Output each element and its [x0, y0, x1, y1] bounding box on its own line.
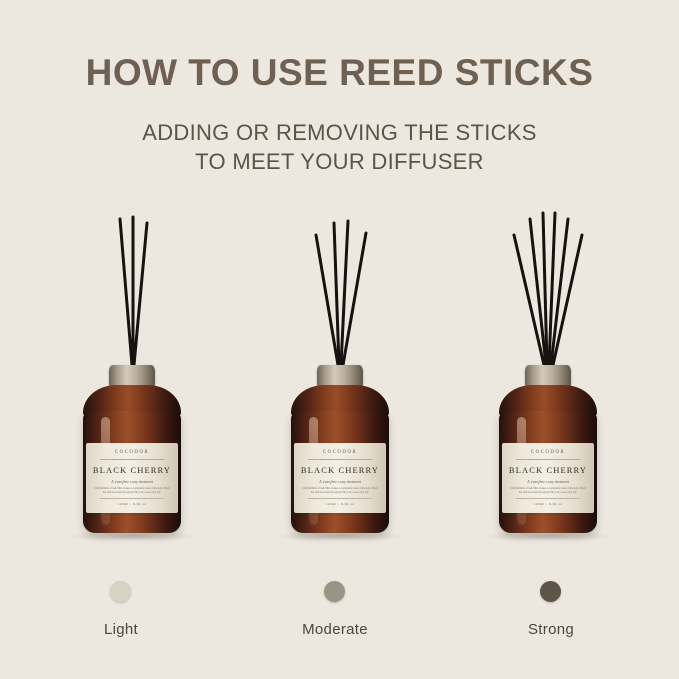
label-brand: COCODOR [502, 450, 594, 455]
label-scent-name: BLACK CHERRY [294, 465, 386, 475]
label-divider-bottom [516, 498, 580, 499]
bottle-label-light: COCODOR BLACK CHERRY A carefree cozy mom… [86, 443, 178, 513]
label-tagline: A carefree cozy moment [502, 479, 594, 484]
label-divider-top [516, 459, 580, 460]
bottle-label-moderate: COCODOR BLACK CHERRY A carefree cozy mom… [294, 443, 386, 513]
infographic-canvas: HOW TO USE REED STICKS ADDING OR REMOVIN… [0, 0, 679, 679]
bottle-strong: COCODOR BLACK CHERRY A carefree cozy mom… [495, 365, 601, 535]
subtitle-line-1: ADDING OR REMOVING THE STICKS [142, 120, 537, 145]
label-volume: 120ml / 6.49 oz [86, 502, 178, 506]
label-scent-name: BLACK CHERRY [502, 465, 594, 475]
bottle-moderate: COCODOR BLACK CHERRY A carefree cozy mom… [287, 365, 393, 535]
bottle-shadow [482, 531, 614, 541]
label-description: COCODOR is a brand that creates a comfor… [510, 487, 586, 494]
reed-sticks-moderate [240, 195, 440, 365]
diffuser-moderate: COCODOR BLACK CHERRY A carefree cozy mom… [240, 195, 440, 555]
slider-knob-light[interactable] [110, 581, 131, 602]
slider-knob-moderate[interactable] [324, 581, 345, 602]
label-brand: COCODOR [294, 450, 386, 455]
label-volume: 120ml / 6.49 oz [502, 502, 594, 506]
slider-knob-strong[interactable] [540, 581, 561, 602]
label-divider-top [100, 459, 164, 460]
reed-sticks-light [32, 195, 232, 365]
bottle-light: COCODOR BLACK CHERRY A carefree cozy mom… [79, 365, 185, 535]
label-tagline: A carefree cozy moment [294, 479, 386, 484]
label-divider-top [308, 459, 372, 460]
diffuser-strong: COCODOR BLACK CHERRY A carefree cozy mom… [448, 195, 648, 555]
label-description: COCODOR is a brand that creates a comfor… [302, 487, 378, 494]
subtitle-line-2: TO MEET YOUR DIFFUSER [0, 147, 679, 176]
bottle-shadow [274, 531, 406, 541]
diffuser-light: COCODOR BLACK CHERRY A carefree cozy mom… [32, 195, 232, 555]
label-divider-bottom [308, 498, 372, 499]
reed-sticks-strong [448, 195, 648, 365]
label-scent-name: BLACK CHERRY [86, 465, 178, 475]
label-divider-bottom [100, 498, 164, 499]
label-brand: COCODOR [86, 450, 178, 455]
bottle-shadow [66, 531, 198, 541]
slider-label-strong: Strong [471, 621, 631, 638]
label-description: COCODOR is a brand that creates a comfor… [94, 487, 170, 494]
page-subtitle: ADDING OR REMOVING THE STICKS TO MEET YO… [0, 118, 679, 176]
bottle-label-strong: COCODOR BLACK CHERRY A carefree cozy mom… [502, 443, 594, 513]
slider-labels: Light Moderate Strong [0, 621, 679, 643]
label-tagline: A carefree cozy moment [86, 479, 178, 484]
page-title: HOW TO USE REED STICKS [0, 52, 679, 94]
slider-label-moderate: Moderate [255, 621, 415, 638]
label-volume: 120ml / 6.49 oz [294, 502, 386, 506]
slider-label-light: Light [41, 621, 201, 638]
